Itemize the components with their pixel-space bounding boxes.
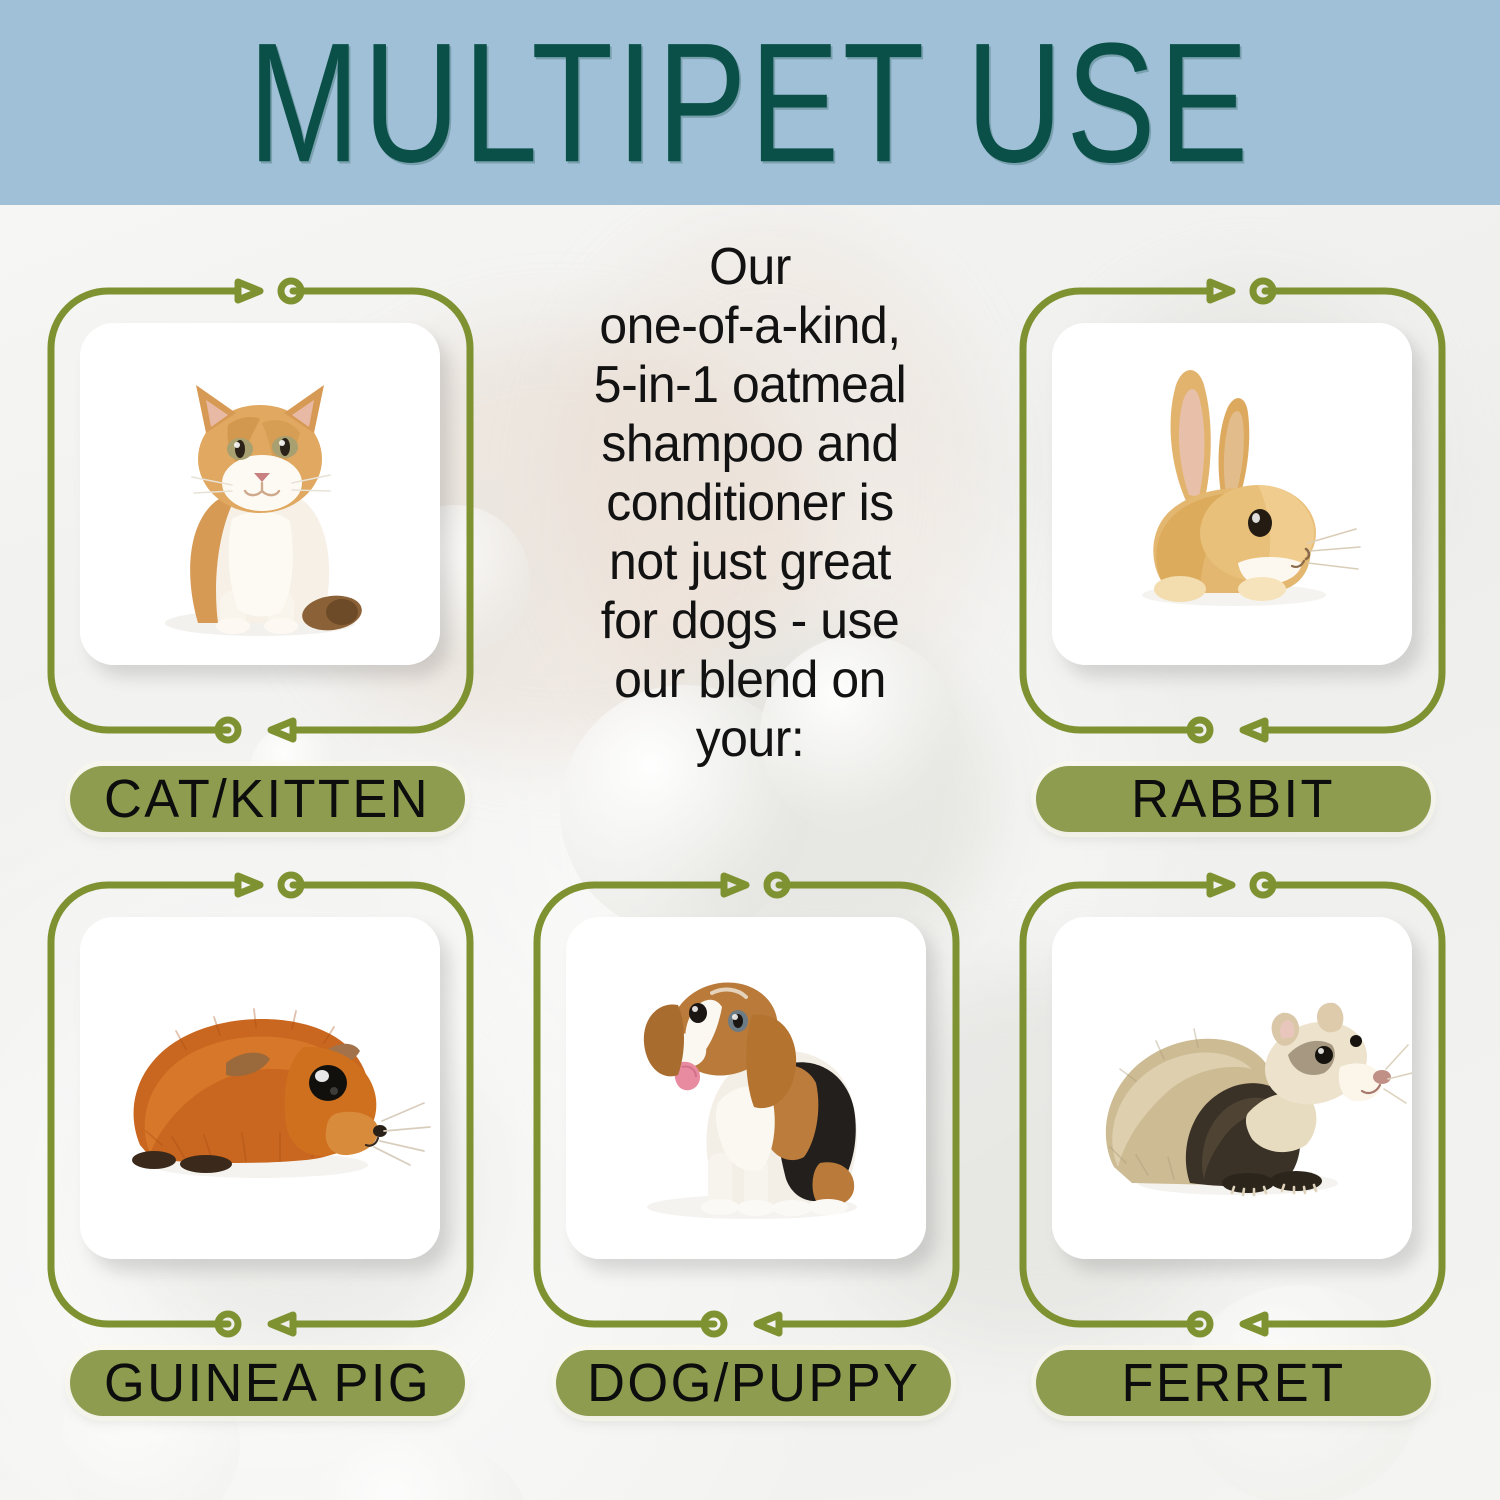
pet-label-guinea-pig: GUINEA PIG	[70, 1350, 465, 1416]
pet-label-rabbit: RABBIT	[1036, 766, 1431, 832]
pet-card-ferret[interactable]	[1020, 882, 1445, 1327]
pet-label-ferret: FERRET	[1036, 1350, 1431, 1416]
pet-label-cat: CAT/KITTEN	[70, 766, 465, 832]
multipet-use-infographic: MULTIPET USE Our one-of-a-kind, 5-in-1 o…	[0, 0, 1500, 1500]
rabbit-photo	[1052, 323, 1412, 665]
pet-label-dog: DOG/PUPPY	[556, 1350, 951, 1416]
blurb-line: shampoo and	[529, 415, 971, 474]
pet-card-rabbit[interactable]	[1020, 288, 1445, 733]
blurb-line: not just great	[529, 533, 971, 592]
ferret-photo	[1052, 917, 1412, 1259]
guinea-pig-photo	[80, 917, 440, 1259]
product-description: Our one-of-a-kind, 5-in-1 oatmeal shampo…	[529, 238, 971, 769]
pet-card-cat[interactable]	[48, 288, 473, 733]
blurb-line: your:	[529, 710, 971, 769]
blurb-line: 5-in-1 oatmeal	[529, 356, 971, 415]
blurb-line: one-of-a-kind,	[529, 297, 971, 356]
blurb-line: our blend on	[529, 651, 971, 710]
pet-card-guinea-pig[interactable]	[48, 882, 473, 1327]
blurb-line: for dogs - use	[529, 592, 971, 651]
blurb-line: Our	[529, 238, 971, 297]
cat-photo	[80, 323, 440, 665]
page-title: MULTIPET USE	[90, 0, 1410, 217]
blurb-line: conditioner is	[529, 474, 971, 533]
pet-card-dog[interactable]	[534, 882, 959, 1327]
dog-photo	[566, 917, 926, 1259]
